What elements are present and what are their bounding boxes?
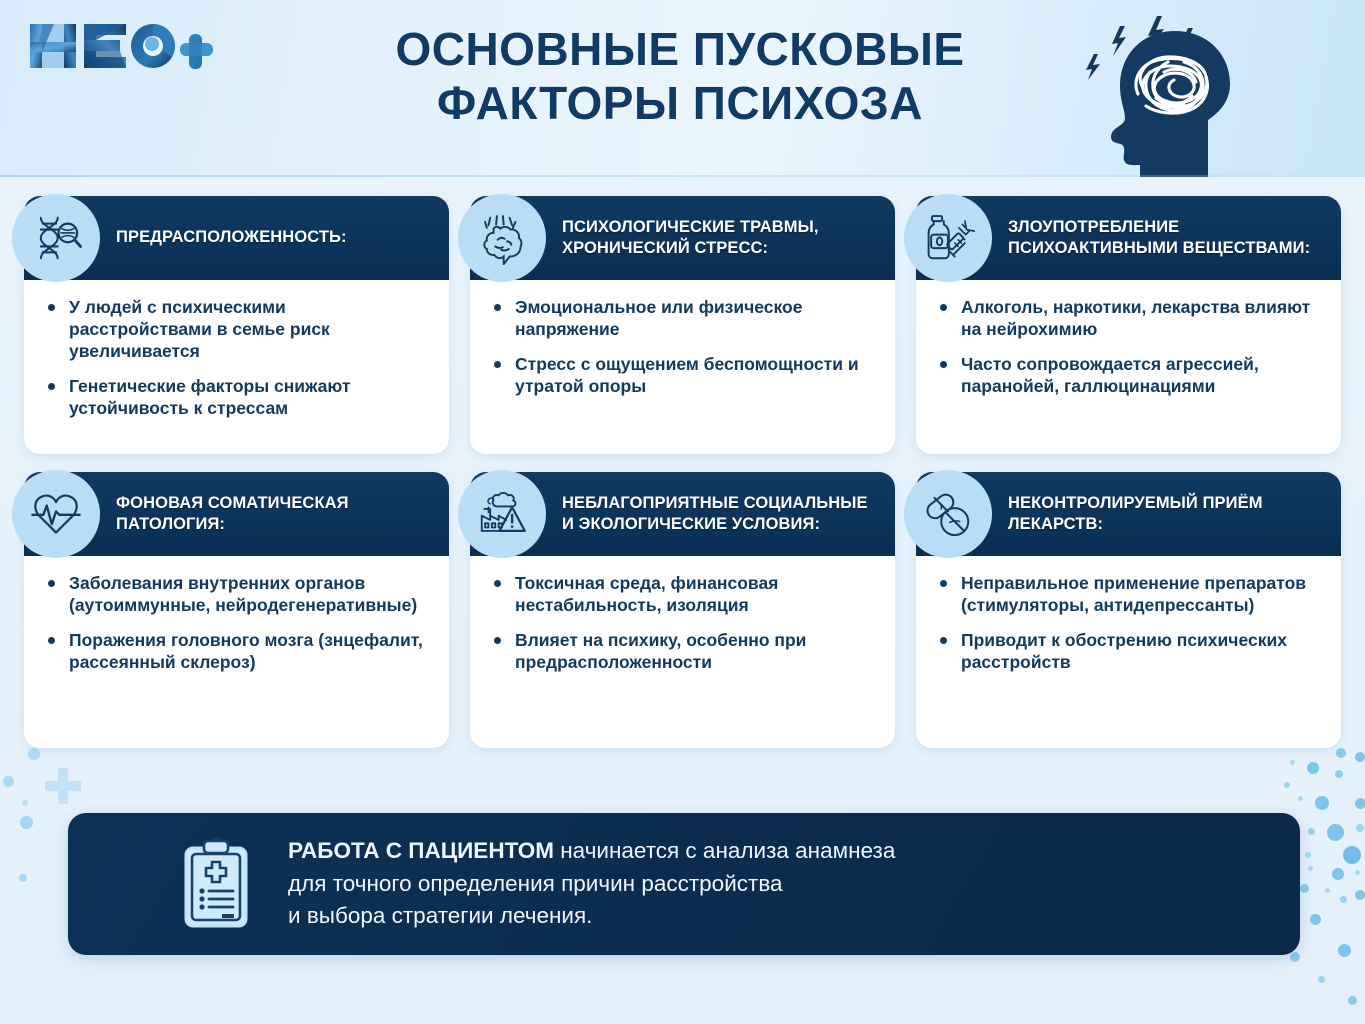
deco-dot <box>19 874 27 882</box>
deco-dot <box>1305 852 1311 858</box>
card-header: ФОНОВАЯ СОМАТИЧЕСКАЯ ПАТОЛОГИЯ: <box>24 472 449 556</box>
list-item: Генетические факторы снижают устойчивост… <box>46 375 429 419</box>
banner-text: РАБОТА С ПАЦИЕНТОМ начинается с анализа … <box>288 835 895 933</box>
deco-dot <box>1335 770 1343 778</box>
deco-dot <box>1315 796 1329 810</box>
deco-dot <box>1356 824 1364 832</box>
list-item: Стресс с ощущением беспомощности и утрат… <box>492 353 875 397</box>
factor-cards-grid: ПРЕДРАСПОЛОЖЕННОСТЬ: У людей с психическ… <box>24 196 1341 748</box>
list-item: Эмоциональное или физическое напряжение <box>492 296 875 340</box>
factory-warning-icon <box>458 470 546 558</box>
card-body: Алкоголь, наркотики, лекарства влияют на… <box>916 280 1341 416</box>
footer-banner: РАБОТА С ПАЦИЕНТОМ начинается с анализа … <box>68 813 1300 955</box>
bullet-list: Токсичная среда, финансовая нестабильнос… <box>492 572 875 673</box>
card-header: ЗЛОУПОТРЕБЛЕНИЕ ПСИХОАКТИВНЫМИ ВЕЩЕСТВАМ… <box>916 196 1341 280</box>
card-title: ПСИХОЛОГИЧЕСКИЕ ТРАВМЫ, ХРОНИЧЕСКИЙ СТРЕ… <box>562 217 877 259</box>
bullet-list: Неправильное применение препаратов (стим… <box>938 572 1321 673</box>
list-item: У людей с психическими расстройствами в … <box>46 296 429 362</box>
bullet-list: У людей с психическими расстройствами в … <box>46 296 429 419</box>
deco-cross-icon <box>45 768 81 804</box>
bottle-syringe-icon <box>904 194 992 282</box>
page-header: ОСНОВНЫЕ ПУСКОВЫЕ ФАКТОРЫ ПСИХОЗА <box>0 0 1365 177</box>
banner-line-1-rest: начинается с анализа анамнеза <box>554 838 895 863</box>
list-item: Токсичная среда, финансовая нестабильнос… <box>492 572 875 616</box>
deco-dot <box>1348 996 1357 1005</box>
infographic-page: ОСНОВНЫЕ ПУСКОВЫЕ ФАКТОРЫ ПСИХОЗА <box>0 0 1365 1024</box>
card-body: Эмоциональное или физическое напряжение … <box>470 280 895 416</box>
card-body: У людей с психическими расстройствами в … <box>24 280 449 438</box>
deco-dot <box>20 816 33 829</box>
deco-dot <box>3 776 14 787</box>
deco-dot <box>1340 896 1347 903</box>
card-body: Неправильное применение препаратов (стим… <box>916 556 1341 692</box>
clipboard-medical-icon <box>180 838 252 930</box>
list-item: Алкоголь, наркотики, лекарства влияют на… <box>938 296 1321 340</box>
list-item: Заболевания внутренних органов (аутоимму… <box>46 572 429 616</box>
deco-dot <box>1327 824 1344 841</box>
factor-card[interactable]: ФОНОВАЯ СОМАТИЧЕСКАЯ ПАТОЛОГИЯ: Заболева… <box>24 472 449 748</box>
banner-line-3: и выбора стратегии лечения. <box>288 900 895 933</box>
card-title: НЕБЛАГОПРИЯТНЫЕ СОЦИАЛЬНЫЕ И ЭКОЛОГИЧЕСК… <box>562 493 877 535</box>
deco-dot <box>1318 976 1325 983</box>
banner-line-2: для точного определения причин расстройс… <box>288 868 895 901</box>
head-with-tangled-brain-icon <box>1080 2 1270 177</box>
list-item: Неправильное применение препаратов (стим… <box>938 572 1321 616</box>
deco-dot <box>1308 866 1313 871</box>
card-body: Заболевания внутренних органов (аутоимму… <box>24 556 449 692</box>
deco-dot <box>1298 796 1303 801</box>
page-title-line-1: ОСНОВНЫЕ ПУСКОВЫЕ <box>300 22 1060 76</box>
card-header: ПСИХОЛОГИЧЕСКИЕ ТРАВМЫ, ХРОНИЧЕСКИЙ СТРЕ… <box>470 196 895 280</box>
deco-dot <box>1355 752 1365 762</box>
deco-dot <box>22 800 28 806</box>
card-header: НЕБЛАГОПРИЯТНЫЕ СОЦИАЛЬНЫЕ И ЭКОЛОГИЧЕСК… <box>470 472 895 556</box>
page-title: ОСНОВНЫЕ ПУСКОВЫЕ ФАКТОРЫ ПСИХОЗА <box>300 22 1060 131</box>
deco-dot <box>1332 868 1344 880</box>
factor-card[interactable]: НЕКОНТРОЛИРУЕМЫЙ ПРИЁМ ЛЕКАРСТВ: Неправи… <box>916 472 1341 748</box>
card-header: НЕКОНТРОЛИРУЕМЫЙ ПРИЁМ ЛЕКАРСТВ: <box>916 472 1341 556</box>
deco-dot <box>1307 762 1319 774</box>
card-header: ПРЕДРАСПОЛОЖЕННОСТЬ: <box>24 196 449 280</box>
card-title: ПРЕДРАСПОЛОЖЕННОСТЬ: <box>116 227 347 248</box>
bullet-list: Эмоциональное или физическое напряжение … <box>492 296 875 397</box>
banner-line-1: РАБОТА С ПАЦИЕНТОМ начинается с анализа … <box>288 835 895 868</box>
stressed-brain-icon <box>458 194 546 282</box>
list-item: Влияет на психику, особенно при предрасп… <box>492 629 875 673</box>
card-body: Токсичная среда, финансовая нестабильнос… <box>470 556 895 692</box>
banner-bold-lead: РАБОТА С ПАЦИЕНТОМ <box>288 838 554 863</box>
deco-dot <box>1325 888 1330 893</box>
dna-magnifier-icon <box>12 194 100 282</box>
deco-dot <box>1300 884 1309 893</box>
pills-icon <box>904 470 992 558</box>
bullet-list: Алкоголь, наркотики, лекарства влияют на… <box>938 296 1321 397</box>
list-item: Поражения головного мозга (знцефалит, ра… <box>46 629 429 673</box>
factor-card[interactable]: ЗЛОУПОТРЕБЛЕНИЕ ПСИХОАКТИВНЫМИ ВЕЩЕСТВАМ… <box>916 196 1341 454</box>
deco-dot <box>1284 782 1290 788</box>
list-item: Часто сопровождается агрессией, паранойе… <box>938 353 1321 397</box>
card-title: ЗЛОУПОТРЕБЛЕНИЕ ПСИХОАКТИВНЫМИ ВЕЩЕСТВАМ… <box>1008 217 1323 259</box>
deco-dot <box>1308 828 1315 835</box>
card-title: НЕКОНТРОЛИРУЕМЫЙ ПРИЁМ ЛЕКАРСТВ: <box>1008 493 1323 535</box>
deco-dot <box>1290 760 1295 765</box>
brand-logo[interactable] <box>28 18 218 74</box>
deco-dot <box>1336 748 1346 758</box>
deco-dot <box>1338 944 1351 957</box>
factor-card[interactable]: ПСИХОЛОГИЧЕСКИЕ ТРАВМЫ, ХРОНИЧЕСКИЙ СТРЕ… <box>470 196 895 454</box>
deco-dot <box>1310 914 1321 925</box>
deco-dot <box>1355 890 1365 900</box>
deco-dot <box>1343 846 1361 864</box>
deco-dot <box>1355 870 1360 875</box>
heart-pulse-icon <box>12 470 100 558</box>
deco-dot <box>1290 952 1300 962</box>
card-title: ФОНОВАЯ СОМАТИЧЕСКАЯ ПАТОЛОГИЯ: <box>116 493 431 535</box>
page-title-line-2: ФАКТОРЫ ПСИХОЗА <box>300 76 1060 130</box>
deco-dot <box>1355 798 1365 809</box>
list-item: Приводит к обострению психических расстр… <box>938 629 1321 673</box>
factor-card[interactable]: ПРЕДРАСПОЛОЖЕННОСТЬ: У людей с психическ… <box>24 196 449 454</box>
factor-card[interactable]: НЕБЛАГОПРИЯТНЫЕ СОЦИАЛЬНЫЕ И ЭКОЛОГИЧЕСК… <box>470 472 895 748</box>
bullet-list: Заболевания внутренних органов (аутоимму… <box>46 572 429 673</box>
deco-dot <box>28 748 40 760</box>
